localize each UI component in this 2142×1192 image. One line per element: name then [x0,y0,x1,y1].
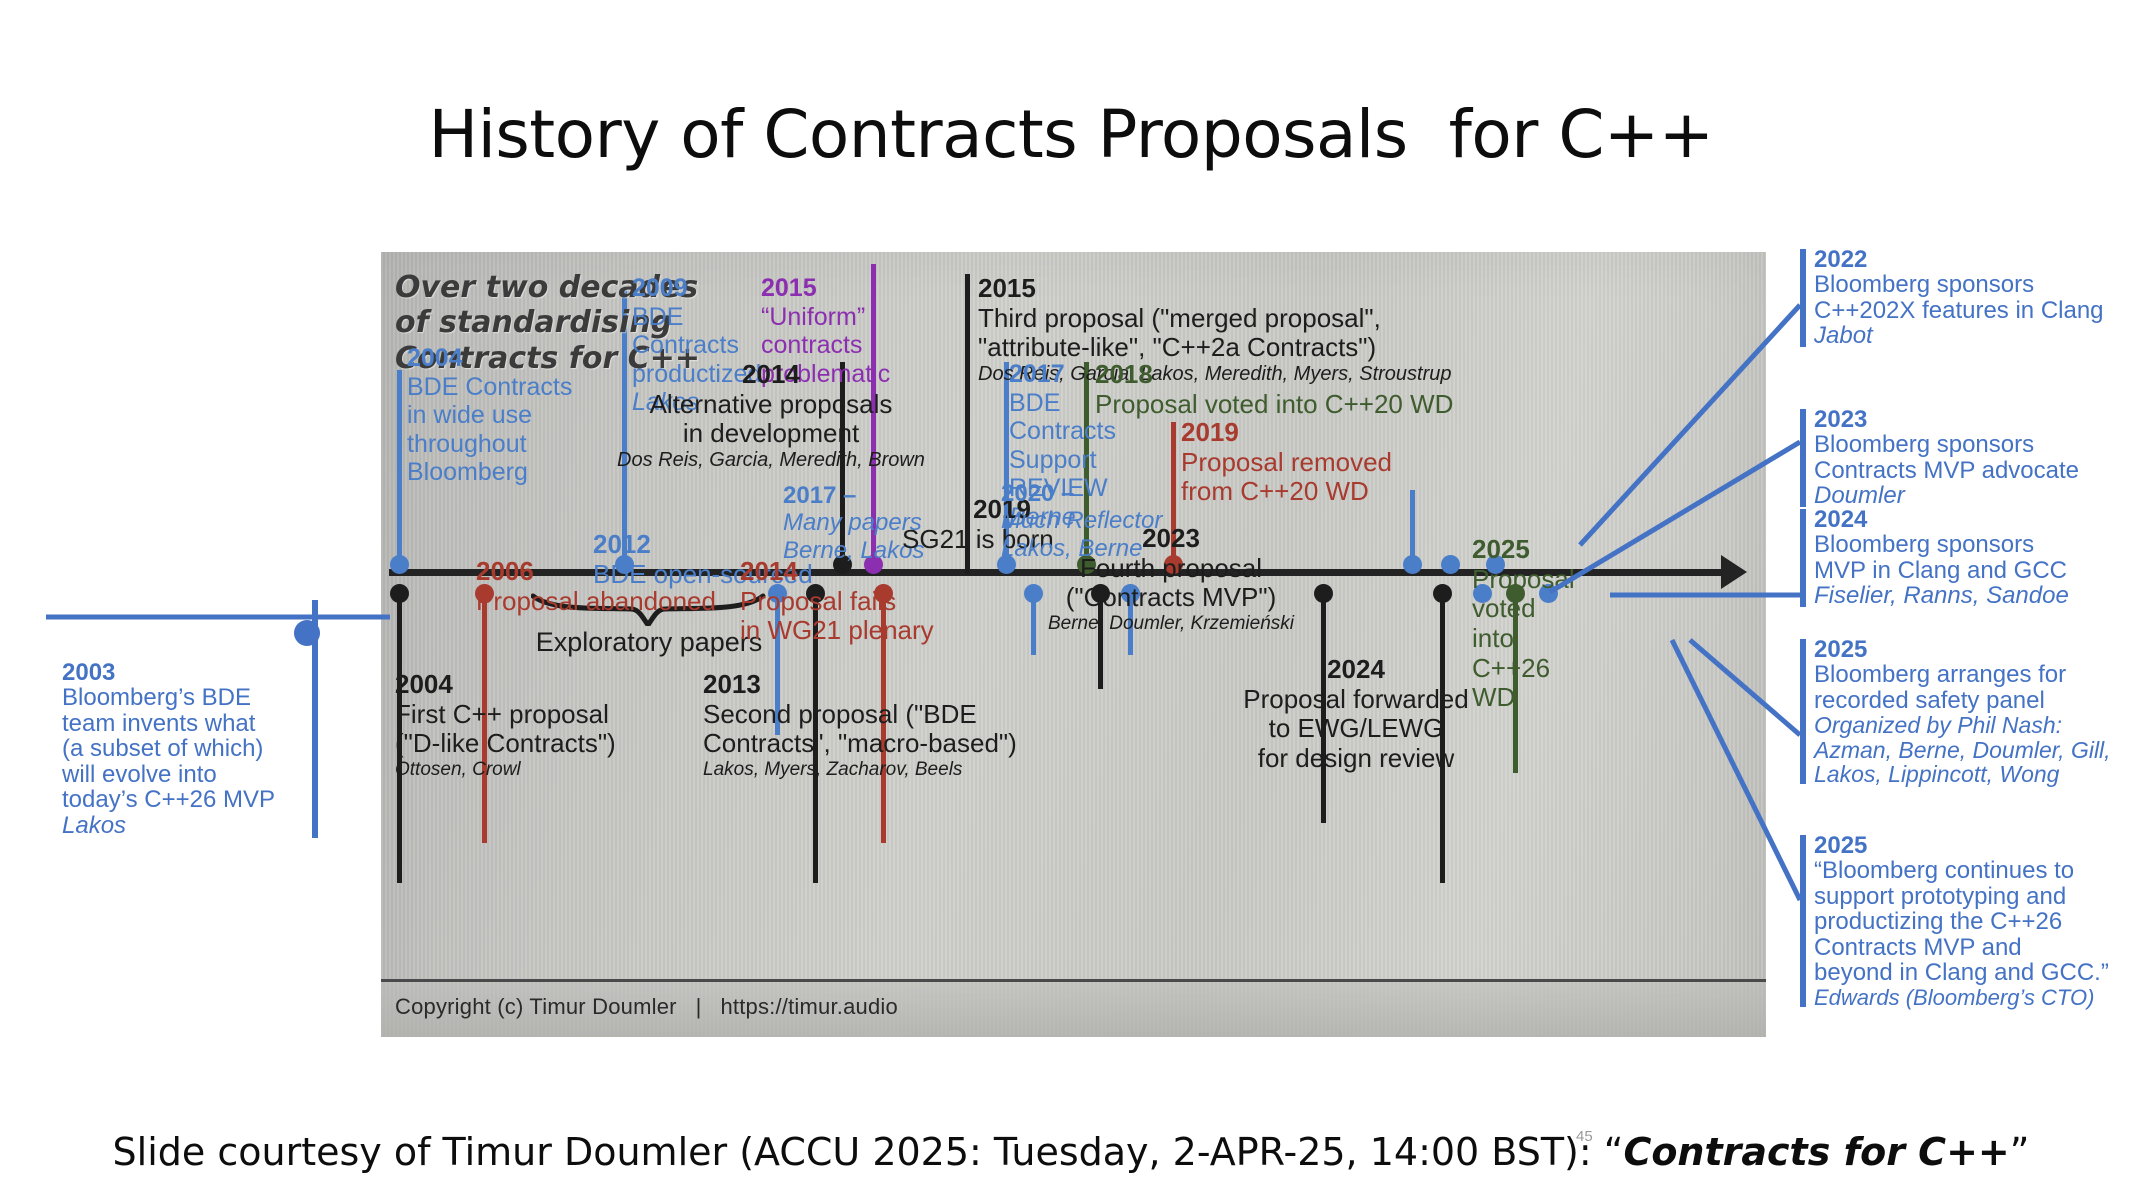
marker-dot-2022-anchor [1403,555,1422,574]
event-year: 2013 [703,670,1033,700]
event-year: 2014 [581,360,961,390]
callout-year: 2022 [1814,247,2130,272]
event-authors: Lakos, Myers, Zacharov, Beels [703,759,1033,781]
footer-prefix: Slide courtesy of Timur Doumler (ACCU 20… [113,1130,1624,1174]
callout-year: 2023 [1814,407,2130,432]
event-year: 2019 [1181,418,1441,448]
brace-label: Exploratory papers [529,627,769,658]
event-2015-uniform-quote [761,307,911,336]
callout-rule [1800,835,1806,1007]
event-year: 2025 [1472,535,1584,565]
event-authors: Ottosen, Crowl [395,759,655,781]
event-2024-below: 2024 Proposal forwarded to EWG/LEWG for … [1226,655,1486,774]
slide: History of Contracts Proposals for C++ O… [0,0,2142,1192]
event-year: 2004 [395,670,655,700]
event-2004-above: 2004 BDE Contracts in wide use throughou… [407,344,597,487]
timeline-arrow-icon [1721,555,1747,589]
copyright-strip: Copyright (c) Timur Doumler | https://ti… [381,979,1766,1037]
callout-2025-quote: 2025 “Bloomberg continues to support pro… [1800,833,2130,1009]
callout-authors: Doumler [1814,483,2130,508]
callout-rule [1800,409,1806,507]
event-2014-above: 2014 Alternative proposals in developmen… [581,360,961,472]
callout-year: 2025 [1814,637,2130,662]
marker-dot-2004-above [390,555,409,574]
event-2018-above: 2018 Proposal voted into C++20 WD [1095,360,1525,419]
callout-rule [1800,509,1806,607]
callout-authors: Fiselier, Ranns, Sandoe [1814,583,2130,608]
event-2025-below: 2025 Proposal voted into C++26 WD [1472,535,1584,713]
event-text: Proposal forwarded to EWG/LEWG for desig… [1243,684,1468,773]
event-year: 2024 [1226,655,1486,685]
callout-year: 2024 [1814,507,2130,532]
callout-2025-panel: 2025 Bloomberg arranges for recorded saf… [1800,637,2130,786]
callout-body: Bloomberg arranges for recorded safety p… [1814,661,2066,713]
event-text: Proposal voted into C++26 WD [1472,564,1575,713]
event-text: Alternative proposals in development [650,389,893,449]
callout-rule [1800,249,1806,347]
event-year: 2015 [978,274,1598,304]
event-text: BDE Contracts in wide use throughout Blo… [407,373,572,487]
callout-body: Bloomberg’s BDE team invents what (a sub… [62,684,275,813]
timeline-photo: Over two decades of standardising Contra… [381,252,1766,1037]
event-year: 2023 [1021,524,1321,554]
event-2014-below: 2014 Proposal fails in WG21 plenary [740,557,980,646]
event-text: Fourth proposal ("Contracts MVP") [1066,553,1277,613]
event-text: Third proposal ("merged proposal", "attr… [978,303,1381,363]
callout-2024: 2024 Bloomberg sponsors MVP in Clang and… [1800,507,2130,609]
page-title: History of Contracts Proposals for C++ [0,96,2142,173]
event-text: Proposal abandoned [476,586,716,616]
callout-authors: Lakos [62,813,352,838]
callout-2023: 2023 Bloomberg sponsors Contracts MVP ad… [1800,407,2130,509]
copyright-text: Copyright (c) Timur Doumler | https://ti… [395,994,898,1020]
footer-emphasis: Contracts for C++ [1623,1130,2009,1174]
callout-2022: 2022 Bloomberg sponsors C++202X features… [1800,247,2130,349]
marker-dot-2023-anchor [1441,555,1460,574]
callout-body: Bloomberg sponsors Contracts MVP advocat… [1814,431,2079,483]
callout-2003: 2003 Bloomberg’s BDE team invents what (… [62,660,352,838]
callout-body: “Bloomberg continues to support prototyp… [1814,857,2109,986]
footer-caption: Slide courtesy of Timur Doumler (ACCU 20… [0,1130,2142,1174]
event-text: Proposal fails in WG21 plenary [740,586,934,646]
event-year: 2015 [761,274,906,303]
event-year: 2004 [407,344,597,373]
callout-year: 2003 [62,660,352,685]
callout-2003-dot [294,620,320,646]
event-year: 2018 [1095,360,1525,390]
callout-body: Bloomberg sponsors MVP in Clang and GCC [1814,531,2067,583]
callout-year: 2025 [1814,833,2130,858]
page-number: 45 [1576,1128,1593,1145]
callout-authors: Organized by Phil Nash: Azman, Berne, Do… [1814,713,2130,786]
marker-stem-2004-above [397,370,402,570]
callout-body: Bloomberg sponsors C++202X features in C… [1814,271,2104,323]
event-authors: Berne, Doumler, Krzemieński [1021,613,1321,635]
event-text: Proposal removed from C++20 WD [1181,447,1392,507]
event-text: Proposal voted into C++20 WD [1095,389,1453,419]
event-2004-below: 2004 First C++ proposal ("D-like Contrac… [395,670,655,781]
event-year: 2020 – [1001,480,1201,507]
event-2019-above: 2019 Proposal removed from C++20 WD [1181,418,1441,507]
event-year: 2009 [632,274,772,303]
event-2013-below: 2013 Second proposal ("BDE Contracts", "… [703,670,1033,781]
event-text: Second proposal ("BDE Contracts", "macro… [703,699,1017,759]
callout-authors: Edwards (Bloomberg’s CTO) [1814,986,2130,1009]
callout-authors: Jabot [1814,323,2130,348]
callout-rule [1800,639,1806,784]
event-text: First C++ proposal ("D-like Contracts") [395,699,616,759]
footer-suffix: ” [2010,1130,2030,1174]
event-authors: Dos Reis, Garcia, Meredith, Brown [581,449,961,472]
event-2023-below: 2023 Fourth proposal ("Contracts MVP") B… [1021,524,1321,635]
